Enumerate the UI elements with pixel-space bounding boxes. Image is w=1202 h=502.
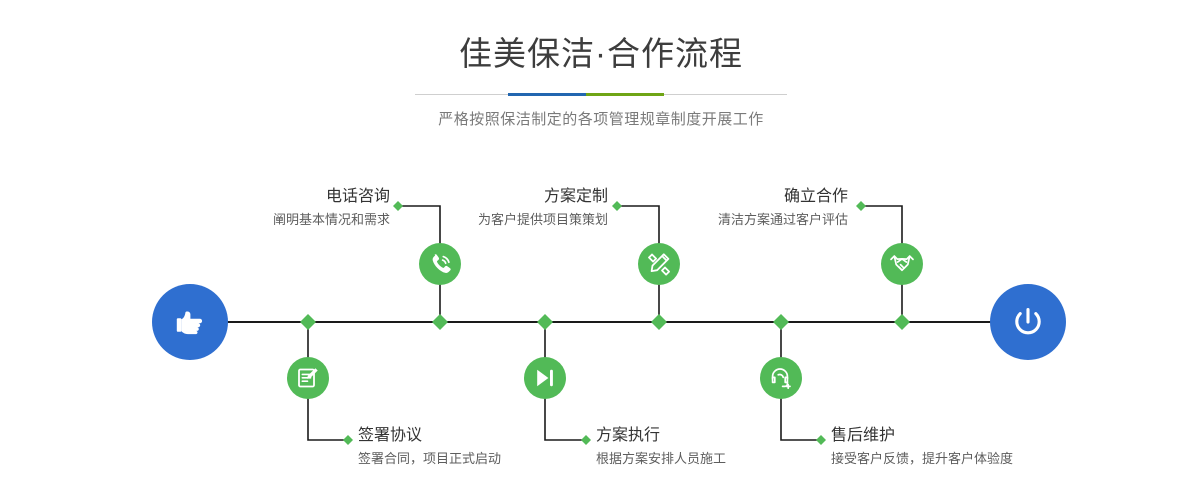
pointing-hand-icon (170, 302, 210, 342)
flow-diagram-page: 佳美保洁·合作流程 严格按照保洁制定的各项管理规章制度开展工作 (0, 0, 1202, 502)
diamond-marker-6 (773, 314, 789, 330)
diamond-marker-4 (537, 314, 553, 330)
step-title-3: 方案定制 (360, 186, 608, 208)
step-title-1: 电话咨询 (138, 186, 390, 208)
step-label-5: 确立合作 清洁方案通过客户评估 (606, 186, 848, 230)
handshake-icon (888, 250, 916, 278)
step-node-3[interactable] (638, 243, 680, 285)
step-desc-6: 接受客户反馈，提升客户体验度 (831, 449, 1131, 469)
diamond-marker-5 (894, 314, 910, 330)
play-execute-icon (532, 365, 558, 391)
step-title-6: 售后维护 (831, 425, 1131, 447)
flow-start-node[interactable] (152, 284, 228, 360)
step-label-1: 电话咨询 阐明基本情况和需求 (138, 186, 390, 230)
step-label-2: 签署协议 签署合同，项目正式启动 (358, 425, 618, 469)
step-desc-2: 签署合同，项目正式启动 (358, 449, 618, 469)
step-node-4[interactable] (524, 357, 566, 399)
step-title-4: 方案执行 (596, 425, 856, 447)
step-node-5[interactable] (881, 243, 923, 285)
step-desc-1: 阐明基本情况和需求 (138, 210, 390, 230)
flow-end-node[interactable] (990, 284, 1066, 360)
step-desc-5: 清洁方案通过客户评估 (606, 210, 848, 230)
phone-call-icon (427, 251, 453, 277)
diamond-marker-2 (300, 314, 316, 330)
step-desc-4: 根据方案安排人员施工 (596, 449, 856, 469)
headset-support-icon (768, 365, 794, 391)
step-label-6: 售后维护 接受客户反馈，提升客户体验度 (831, 425, 1131, 469)
label-marker-5 (856, 201, 866, 211)
diamond-marker-1 (432, 314, 448, 330)
timeline-diamond-markers (300, 314, 910, 330)
step-desc-3: 为客户提供项目策策划 (360, 210, 608, 230)
step-title-5: 确立合作 (606, 186, 848, 208)
step-label-3: 方案定制 为客户提供项目策策划 (360, 186, 608, 230)
step-node-6[interactable] (760, 357, 802, 399)
document-edit-icon (295, 365, 321, 391)
diamond-marker-3 (651, 314, 667, 330)
label-marker-2 (343, 435, 353, 445)
step-node-1[interactable] (419, 243, 461, 285)
step-label-4: 方案执行 根据方案安排人员施工 (596, 425, 856, 469)
step-title-2: 签署协议 (358, 425, 618, 447)
pencil-ruler-icon (646, 251, 672, 277)
power-icon (1007, 301, 1049, 343)
step-node-2[interactable] (287, 357, 329, 399)
